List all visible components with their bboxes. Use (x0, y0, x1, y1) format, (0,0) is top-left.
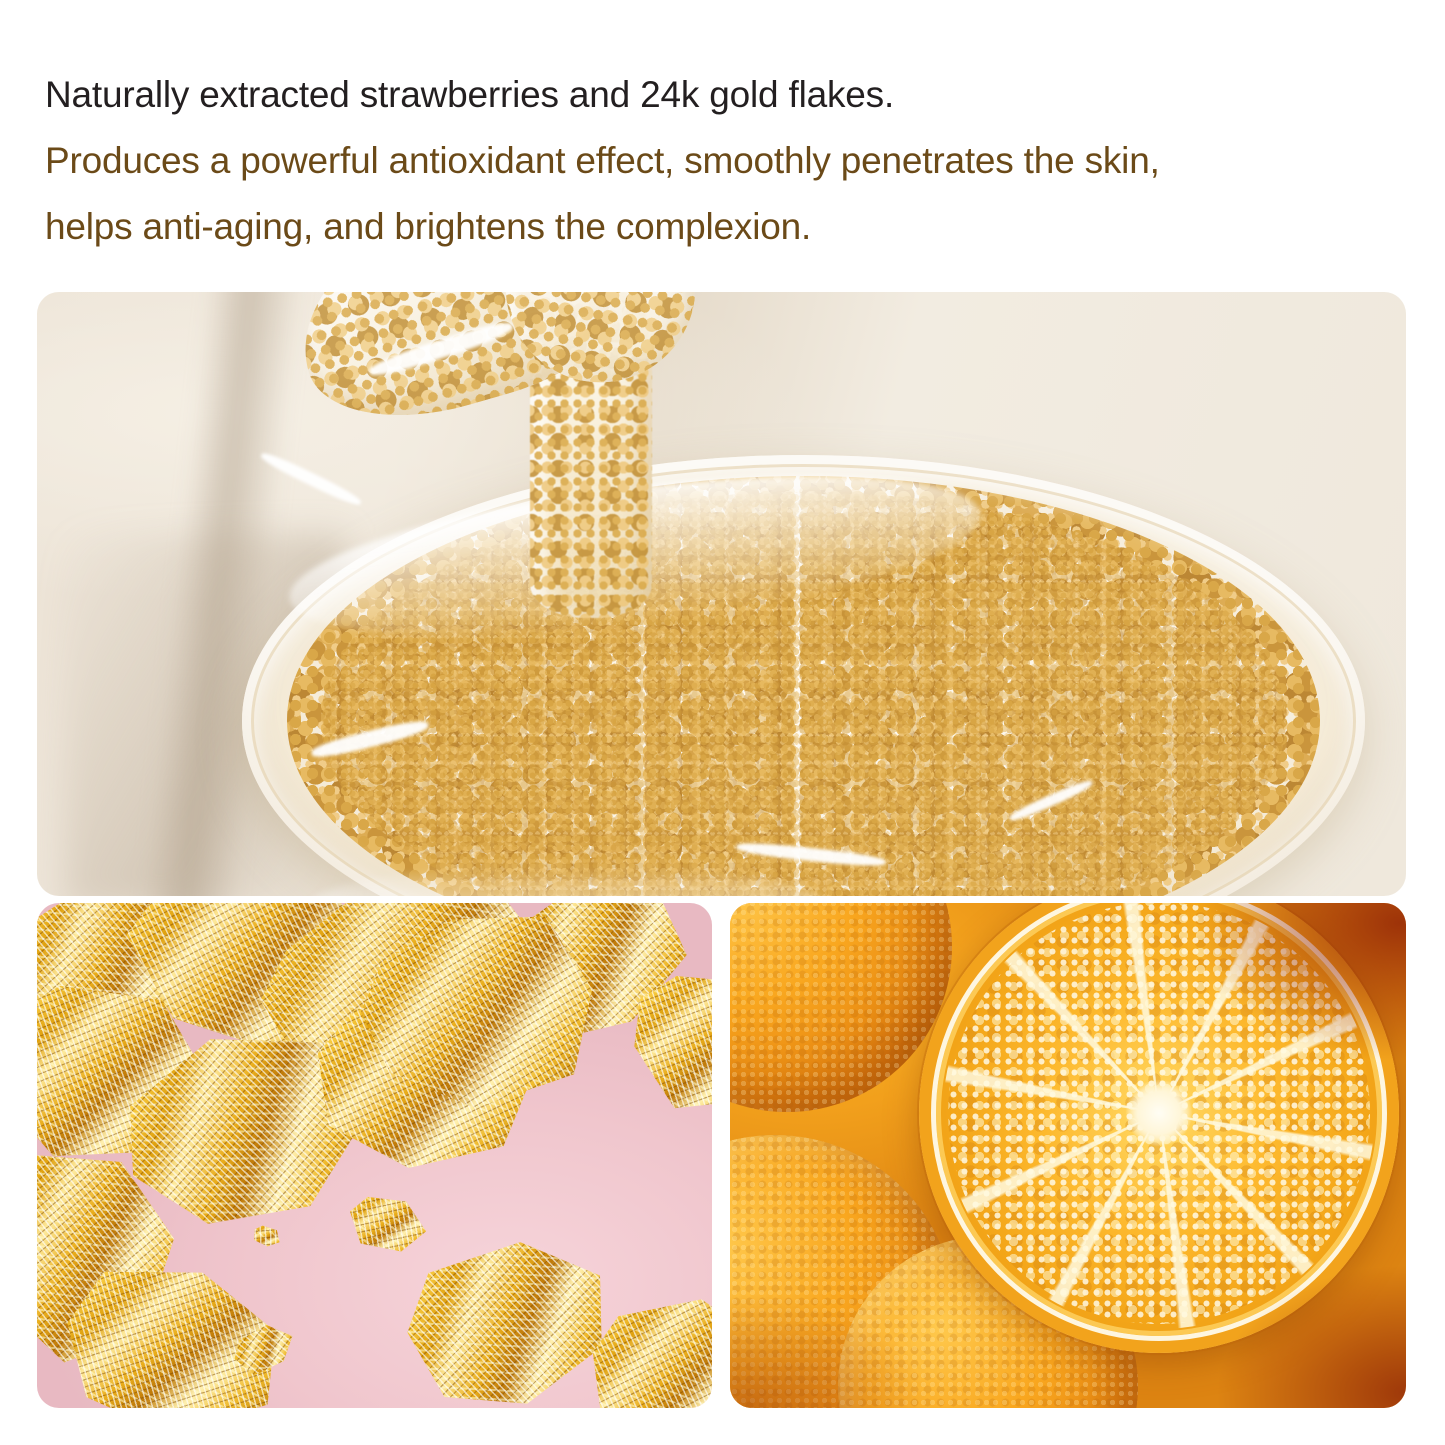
serum-pour-image (37, 292, 1406, 896)
gold-flake (395, 1229, 622, 1408)
gold-flakes-image: 24k gold flakes (37, 903, 712, 1408)
gold-flake (250, 1221, 284, 1252)
body-line-2: helps anti-aging, and brightens the comp… (45, 194, 1405, 260)
orange-corner-vignette (730, 903, 1406, 1408)
headline-line-1: Naturally extracted strawberries and 24k… (45, 62, 1405, 128)
glass-petri-dish (242, 455, 1365, 896)
marketing-copy-block: Naturally extracted strawberries and 24k… (45, 62, 1405, 260)
gold-flake (340, 1183, 433, 1264)
body-line-1: Produces a powerful antioxidant effect, … (45, 128, 1405, 194)
gold-flake (582, 1287, 712, 1408)
vitamin-c-orange-image: Vitamin C (730, 903, 1406, 1408)
